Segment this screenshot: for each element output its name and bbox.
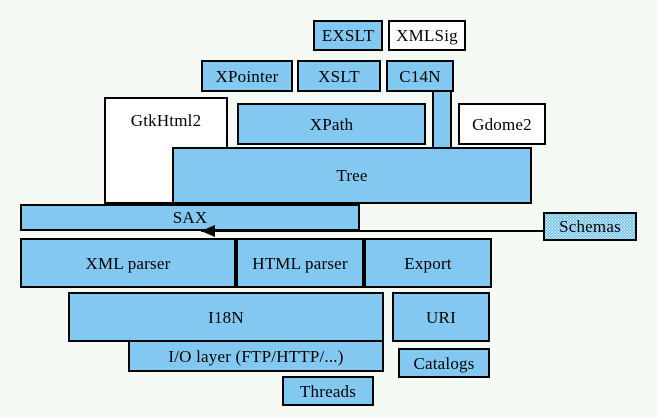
box-tree[interactable]: Tree — [172, 147, 532, 204]
box-i18n[interactable]: I18N — [68, 292, 384, 342]
box-export-label: Export — [404, 255, 451, 272]
box-gdome2-label: Gdome2 — [472, 116, 532, 133]
box-xml-parser[interactable]: XML parser — [20, 238, 236, 288]
box-i18n-label: I18N — [208, 309, 244, 326]
box-export[interactable]: Export — [364, 238, 492, 288]
box-c14n[interactable]: C14N — [386, 60, 454, 92]
box-gdome2[interactable]: Gdome2 — [458, 103, 546, 145]
box-gtkhtml2-label: GtkHtml2 — [131, 112, 202, 129]
box-xpointer[interactable]: XPointer — [201, 60, 293, 92]
box-sax[interactable]: SAX — [20, 204, 360, 231]
box-xmlsig-label: XMLSig — [396, 27, 458, 44]
box-xmlsig[interactable]: XMLSig — [388, 20, 466, 51]
box-xpointer-label: XPointer — [216, 68, 279, 85]
box-threads[interactable]: Threads — [282, 376, 374, 406]
box-html-parser[interactable]: HTML parser — [236, 238, 364, 288]
box-io-layer[interactable]: I/O layer (FTP/HTTP/...) — [128, 340, 384, 372]
arrow-schemas-to-parser-head — [201, 225, 215, 237]
libxml2-architecture-diagram: EXSLT XMLSig XPointer XSLT C14N GtkHtml2… — [0, 0, 657, 418]
box-xpath-label: XPath — [310, 116, 354, 133]
box-catalogs[interactable]: Catalogs — [398, 348, 490, 378]
box-xslt[interactable]: XSLT — [297, 60, 381, 92]
arrow-schemas-to-parser-line — [201, 230, 543, 232]
box-xslt-label: XSLT — [318, 68, 360, 85]
box-uri-label: URI — [426, 309, 456, 326]
box-xml-parser-label: XML parser — [86, 255, 171, 272]
box-sax-label: SAX — [173, 209, 208, 226]
box-uri[interactable]: URI — [392, 292, 490, 342]
box-exslt[interactable]: EXSLT — [313, 20, 383, 51]
box-c14n-label: C14N — [399, 68, 440, 85]
box-schemas-label: Schemas — [559, 218, 621, 235]
box-exslt-label: EXSLT — [322, 27, 374, 44]
box-threads-label: Threads — [300, 383, 356, 400]
box-html-parser-label: HTML parser — [252, 255, 348, 272]
box-schemas[interactable]: Schemas — [543, 212, 637, 241]
box-tree-label: Tree — [336, 167, 367, 184]
box-io-layer-label: I/O layer (FTP/HTTP/...) — [168, 348, 343, 365]
box-catalogs-label: Catalogs — [413, 355, 474, 372]
box-xpath[interactable]: XPath — [237, 103, 426, 145]
connector-c14n-to-tree — [432, 92, 452, 150]
